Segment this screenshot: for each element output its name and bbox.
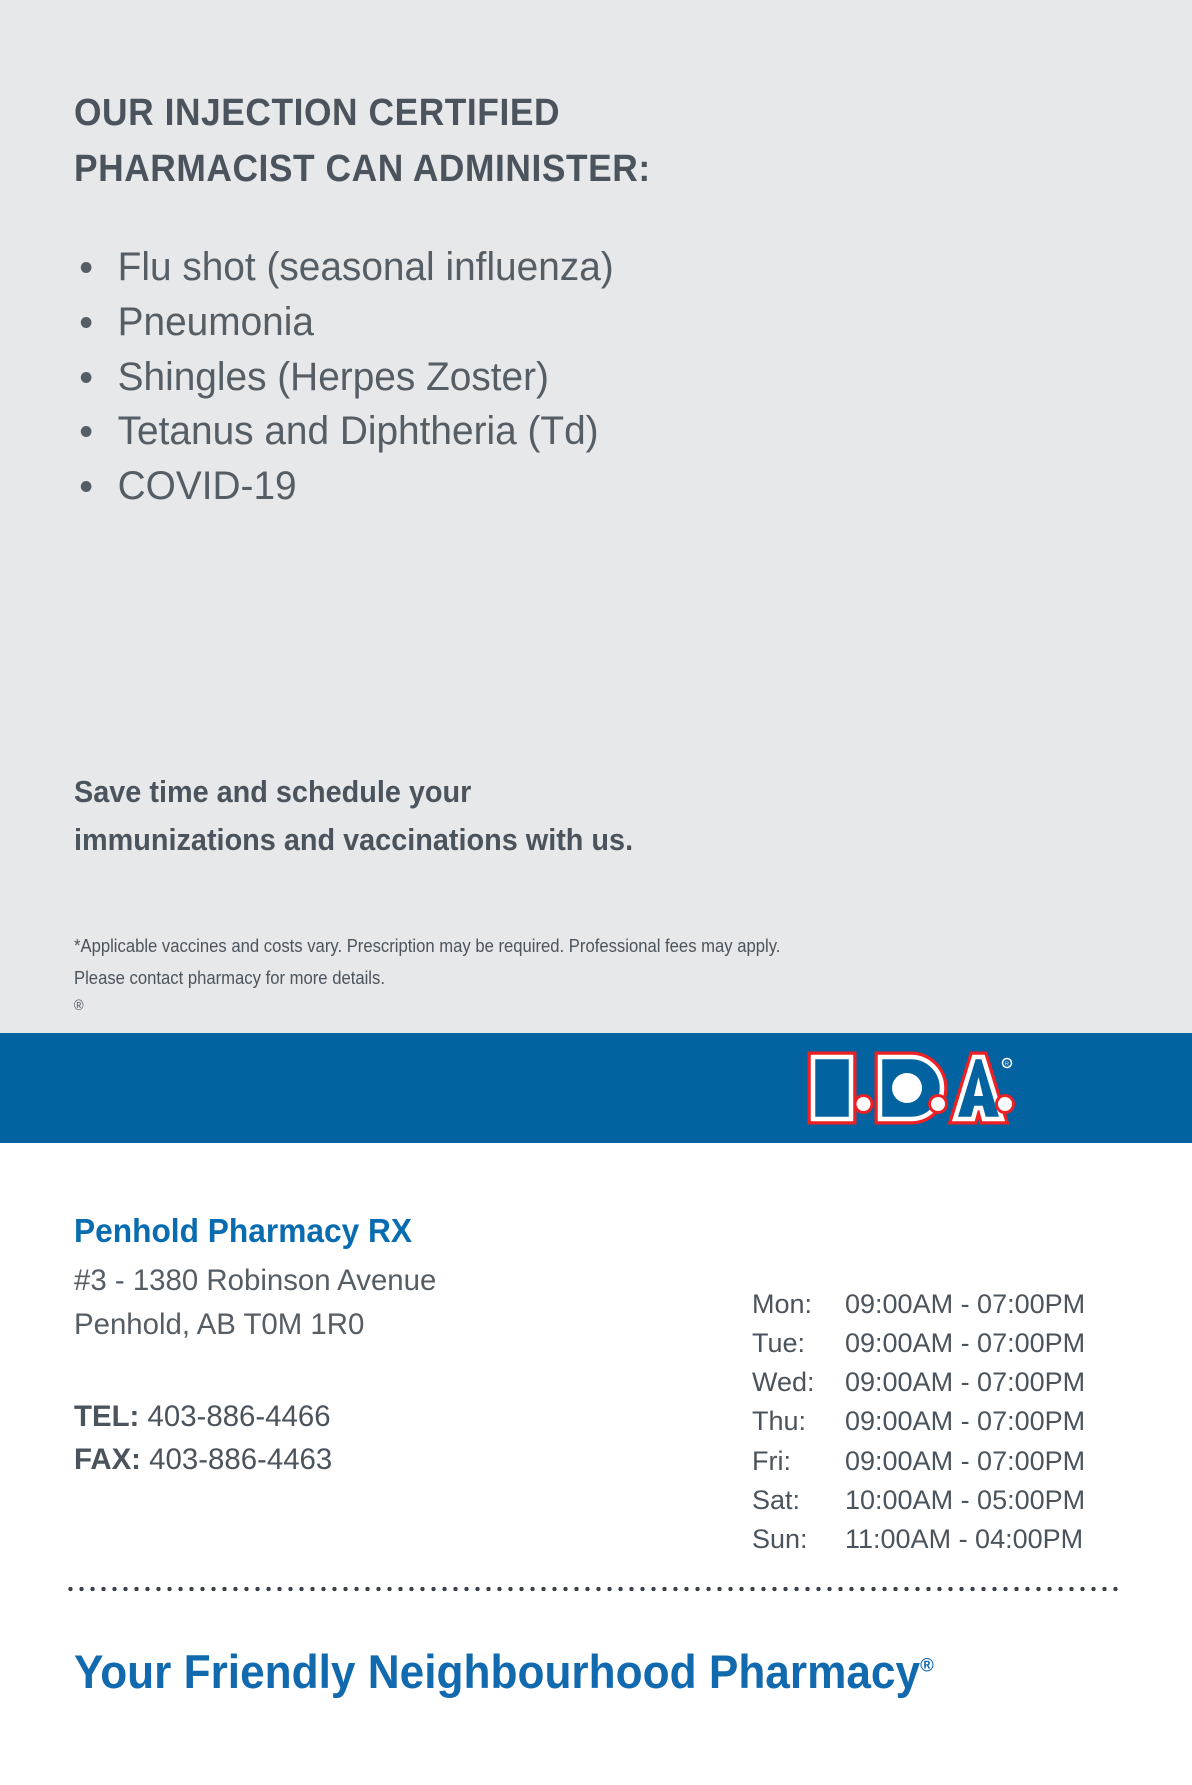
ida-logo: R <box>805 1046 1015 1130</box>
list-item-label: COVID-19 <box>118 464 297 508</box>
bullet-icon <box>81 426 92 437</box>
registered-trademark-icon: ® <box>74 998 84 1014</box>
store-hours: Mon: 09:00AM - 07:00PM Tue: 09:00AM - 07… <box>752 1285 1085 1559</box>
bullet-icon <box>81 372 92 383</box>
hours-time-value: 09:00AM - 07:00PM <box>845 1324 1085 1363</box>
telephone-row: TEL: 403-886-4466 <box>74 1396 332 1439</box>
table-row: Sat: 10:00AM - 05:00PM <box>752 1481 1085 1520</box>
telephone-label: TEL: <box>74 1400 139 1433</box>
tagline-text: Your Friendly Neighbourhood Pharmacy <box>74 1645 920 1698</box>
hours-day-label: Sat: <box>752 1481 845 1520</box>
store-contact: TEL: 403-886-4466 FAX: 403-886-4463 <box>74 1396 332 1481</box>
hours-time-value: 11:00AM - 04:00PM <box>845 1520 1083 1559</box>
svg-text:R: R <box>1005 1062 1009 1068</box>
bullet-icon <box>81 262 92 273</box>
fax-label: FAX: <box>74 1443 141 1476</box>
vaccine-list: Flu shot (seasonal influenza) Pneumonia … <box>74 240 934 514</box>
store-address-line-2: Penhold, AB T0M 1R0 <box>74 1303 682 1347</box>
store-address-line-1: #3 - 1380 Robinson Avenue <box>74 1259 682 1303</box>
table-row: Wed: 09:00AM - 07:00PM <box>752 1363 1085 1402</box>
immunization-panel: OUR INJECTION CERTIFIED PHARMACIST CAN A… <box>0 0 1192 1033</box>
store-address: #3 - 1380 Robinson Avenue Penhold, AB T0… <box>74 1259 682 1347</box>
hours-time-value: 09:00AM - 07:00PM <box>845 1442 1085 1481</box>
disclaimer-line-1: *Applicable vaccines and costs vary. Pre… <box>74 930 1028 962</box>
table-row: Thu: 09:00AM - 07:00PM <box>752 1402 1085 1441</box>
table-row: Sun: 11:00AM - 04:00PM <box>752 1520 1085 1559</box>
hours-time-value: 09:00AM - 07:00PM <box>845 1402 1085 1441</box>
page-title-line-2: PHARMACIST CAN ADMINISTER: <box>74 141 818 197</box>
hours-day-label: Tue: <box>752 1324 845 1363</box>
disclaimer-line-2-part-1: Please contact pharmacy for more details… <box>74 962 1028 994</box>
list-item-label: Tetanus and Diphtheria (Td) <box>118 409 599 453</box>
page-title-line-1: OUR INJECTION CERTIFIED <box>74 85 818 141</box>
page-title: OUR INJECTION CERTIFIED PHARMACIST CAN A… <box>74 85 818 197</box>
store-info: Penhold Pharmacy RX #3 - 1380 Robinson A… <box>74 1210 694 1346</box>
hours-day-label: Wed: <box>752 1363 845 1402</box>
call-to-action-text: Save time and schedule your immunization… <box>74 768 837 864</box>
list-item: COVID-19 <box>74 459 908 514</box>
hours-day-label: Fri: <box>752 1442 845 1481</box>
list-item: Flu shot (seasonal influenza) <box>74 240 908 295</box>
list-item: Shingles (Herpes Zoster) <box>74 350 908 405</box>
store-name: Penhold Pharmacy RX <box>74 1210 669 1253</box>
bullet-icon <box>81 317 92 328</box>
registered-trademark-icon: ® <box>920 1654 934 1676</box>
hours-time-value: 09:00AM - 07:00PM <box>845 1363 1085 1402</box>
tagline: Your Friendly Neighbourhood Pharmacy® <box>74 1646 934 1698</box>
list-item: Pneumonia <box>74 295 908 350</box>
hours-day-label: Sun: <box>752 1520 845 1559</box>
table-row: Tue: 09:00AM - 07:00PM <box>752 1324 1085 1363</box>
fax-value: 403-886-4463 <box>149 1443 332 1476</box>
telephone-value[interactable]: 403-886-4466 <box>148 1400 331 1433</box>
hours-day-label: Thu: <box>752 1402 845 1441</box>
hours-time-value: 10:00AM - 05:00PM <box>845 1481 1085 1520</box>
call-to-action-line-2: immunizations and vaccinations with us. <box>74 816 837 864</box>
hours-time-value: 09:00AM - 07:00PM <box>845 1285 1085 1324</box>
list-item: Tetanus and Diphtheria (Td) <box>74 404 908 459</box>
list-item-label: Shingles (Herpes Zoster) <box>118 355 549 399</box>
hours-day-label: Mon: <box>752 1285 845 1324</box>
table-row: Mon: 09:00AM - 07:00PM <box>752 1285 1085 1324</box>
fax-row: FAX: 403-886-4463 <box>74 1439 332 1482</box>
list-item-label: Pneumonia <box>118 300 314 344</box>
bullet-icon <box>81 481 92 492</box>
dotted-divider <box>65 1586 1120 1592</box>
list-item-label: Flu shot (seasonal influenza) <box>118 245 614 289</box>
table-row: Fri: 09:00AM - 07:00PM <box>752 1442 1085 1481</box>
call-to-action-line-1: Save time and schedule your <box>74 768 837 816</box>
